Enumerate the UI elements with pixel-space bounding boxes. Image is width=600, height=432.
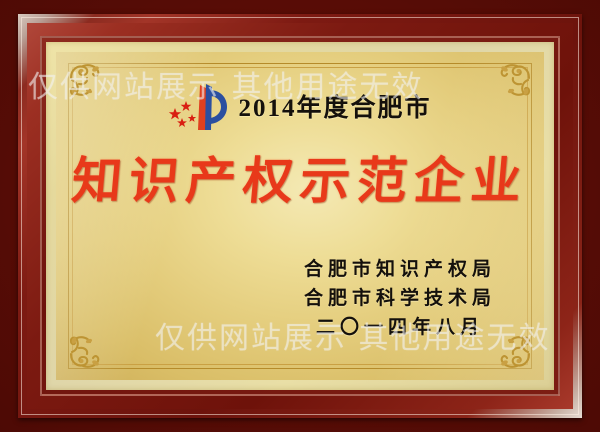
issuer-line-1: 合肥市知识产权局: [304, 256, 496, 285]
hefei-ip-logo-icon: [168, 78, 230, 138]
logo-blue-bowl: [209, 90, 227, 124]
issuer-date: 二〇一四年八月: [304, 314, 496, 343]
plaque-content: 2014年度合肥市 知识产权示范企业 合肥市知识产权局 合肥市科学技术局 二〇一…: [56, 52, 544, 380]
award-plaque: 2014年度合肥市 知识产权示范企业 合肥市知识产权局 合肥市科学技术局 二〇一…: [0, 0, 600, 432]
header-row: 2014年度合肥市: [56, 78, 544, 138]
logo-red-sail: [198, 85, 206, 130]
issuer-line-2: 合肥市科学技术局: [304, 285, 496, 314]
gold-plate: 2014年度合肥市 知识产权示范企业 合肥市知识产权局 合肥市科学技术局 二〇一…: [56, 52, 544, 380]
issuer-block: 合肥市知识产权局 合肥市科学技术局 二〇一四年八月: [304, 256, 496, 343]
page-title: 知识产权示范企业: [56, 156, 544, 206]
header-title: 2014年度合肥市: [238, 96, 431, 121]
logo-stars: [169, 101, 196, 127]
